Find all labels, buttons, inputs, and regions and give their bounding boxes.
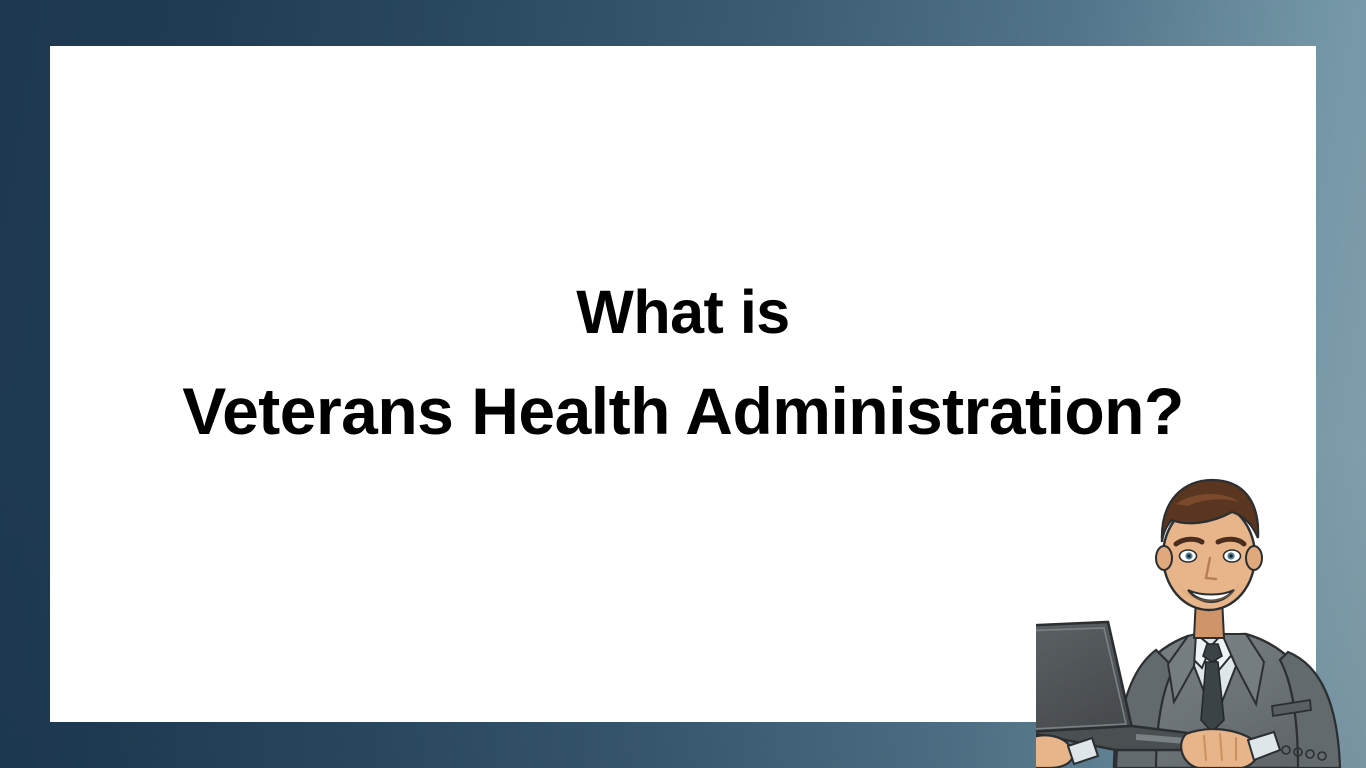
slide-title-block: What is Veterans Health Administration? bbox=[50, 46, 1316, 444]
title-line-2: Veterans Health Administration? bbox=[50, 378, 1316, 444]
content-panel: What is Veterans Health Administration? bbox=[50, 46, 1316, 722]
title-line-1: What is bbox=[50, 282, 1316, 343]
slide-root: What is Veterans Health Administration? bbox=[0, 0, 1366, 768]
